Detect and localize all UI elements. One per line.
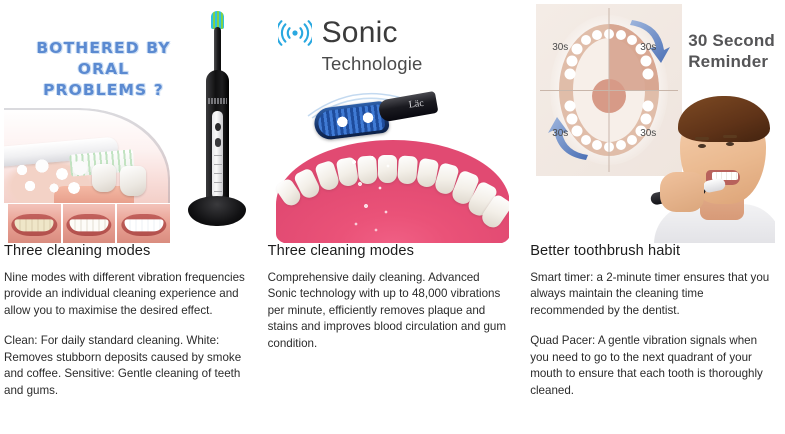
sonic-wordmark: Sonic xyxy=(322,18,398,48)
feature-column-2: Sonic Technologie xyxy=(262,0,524,400)
mode-button-icon xyxy=(215,138,221,147)
hand-shape xyxy=(660,172,704,212)
sonic-logo: Sonic xyxy=(278,18,398,48)
brush-neck xyxy=(214,27,221,75)
feature-column-3: 30s 30s 30s 30s 30 Second Reminder xyxy=(523,0,785,400)
charging-base xyxy=(188,196,246,226)
tooth-shape xyxy=(120,166,146,196)
reminder-title-line-1: 30 Second xyxy=(688,30,775,51)
smile-thumbnail xyxy=(8,204,61,243)
teeth-shape xyxy=(124,219,163,231)
eyebrow-shape xyxy=(723,135,737,138)
power-button-icon xyxy=(215,123,221,131)
mode-indicator-marks xyxy=(214,155,222,195)
gum-closeup-illustration xyxy=(4,108,170,203)
headline-line-1: BOTHERED BY ORAL xyxy=(16,38,191,80)
column-3-heading: Better toothbrush habit xyxy=(530,243,775,261)
column-3-paragraph-2: Quad Pacer: A gentle vibration signals w… xyxy=(530,333,775,399)
quadrant-label-top-right: 30s xyxy=(640,42,656,53)
eyebrow-shape xyxy=(695,137,709,140)
quadrant-label-bottom-left: 30s xyxy=(552,128,568,139)
quadrant-label-top-left: 30s xyxy=(552,42,568,53)
smile-thumbnail xyxy=(63,204,116,243)
column-1-paragraph-2: Clean: For daily standard cleaning. Whit… xyxy=(4,333,248,399)
foam-bubbles-shape xyxy=(8,158,100,200)
water-spray-shape xyxy=(344,154,408,238)
smile-thumbnail xyxy=(117,204,170,243)
mouth-cleaning-illustration: Läc xyxy=(270,98,510,243)
column-3-image: 30s 30s 30s 30s 30 Second Reminder xyxy=(530,0,775,243)
person-brushing-photo xyxy=(648,86,775,243)
smile-thumbnail-strip xyxy=(8,204,170,243)
teeth-shape xyxy=(70,219,109,231)
column-1-heading: Three cleaning modes xyxy=(4,243,248,261)
brush-brand-logo xyxy=(208,98,227,104)
reminder-title-line-2: Reminder xyxy=(688,51,775,72)
column-3-paragraph-1: Smart timer: a 2-minute timer ensures th… xyxy=(530,270,775,320)
oral-problems-headline: BOTHERED BY ORAL PROBLEMS ? xyxy=(16,38,191,101)
signal-wave-icon xyxy=(278,19,312,47)
column-2-paragraph-1: Comprehensive daily cleaning. Advanced S… xyxy=(268,270,510,353)
toothbrush-product-image xyxy=(182,6,248,238)
column-2-image: Sonic Technologie xyxy=(268,0,510,243)
thirty-second-reminder-title: 30 Second Reminder xyxy=(688,30,775,72)
headline-line-2: PROBLEMS ? xyxy=(16,80,191,101)
feature-column-1: BOTHERED BY ORAL PROBLEMS ? xyxy=(0,0,262,400)
column-1-image: BOTHERED BY ORAL PROBLEMS ? xyxy=(4,0,248,243)
feature-columns: BOTHERED BY ORAL PROBLEMS ? xyxy=(0,0,785,400)
toothbrush-head-shape xyxy=(702,177,726,193)
brush-handle-shape xyxy=(377,91,438,123)
brush-brand-label: Läc xyxy=(408,98,424,111)
sonic-subtitle: Technologie xyxy=(322,53,423,75)
teeth-shape xyxy=(15,219,54,231)
column-2-heading: Three cleaning modes xyxy=(268,243,510,261)
product-feature-page: BOTHERED BY ORAL PROBLEMS ? xyxy=(0,0,785,434)
column-1-paragraph-1: Nine modes with different vibration freq… xyxy=(4,270,248,320)
teeth-collage xyxy=(4,108,170,243)
